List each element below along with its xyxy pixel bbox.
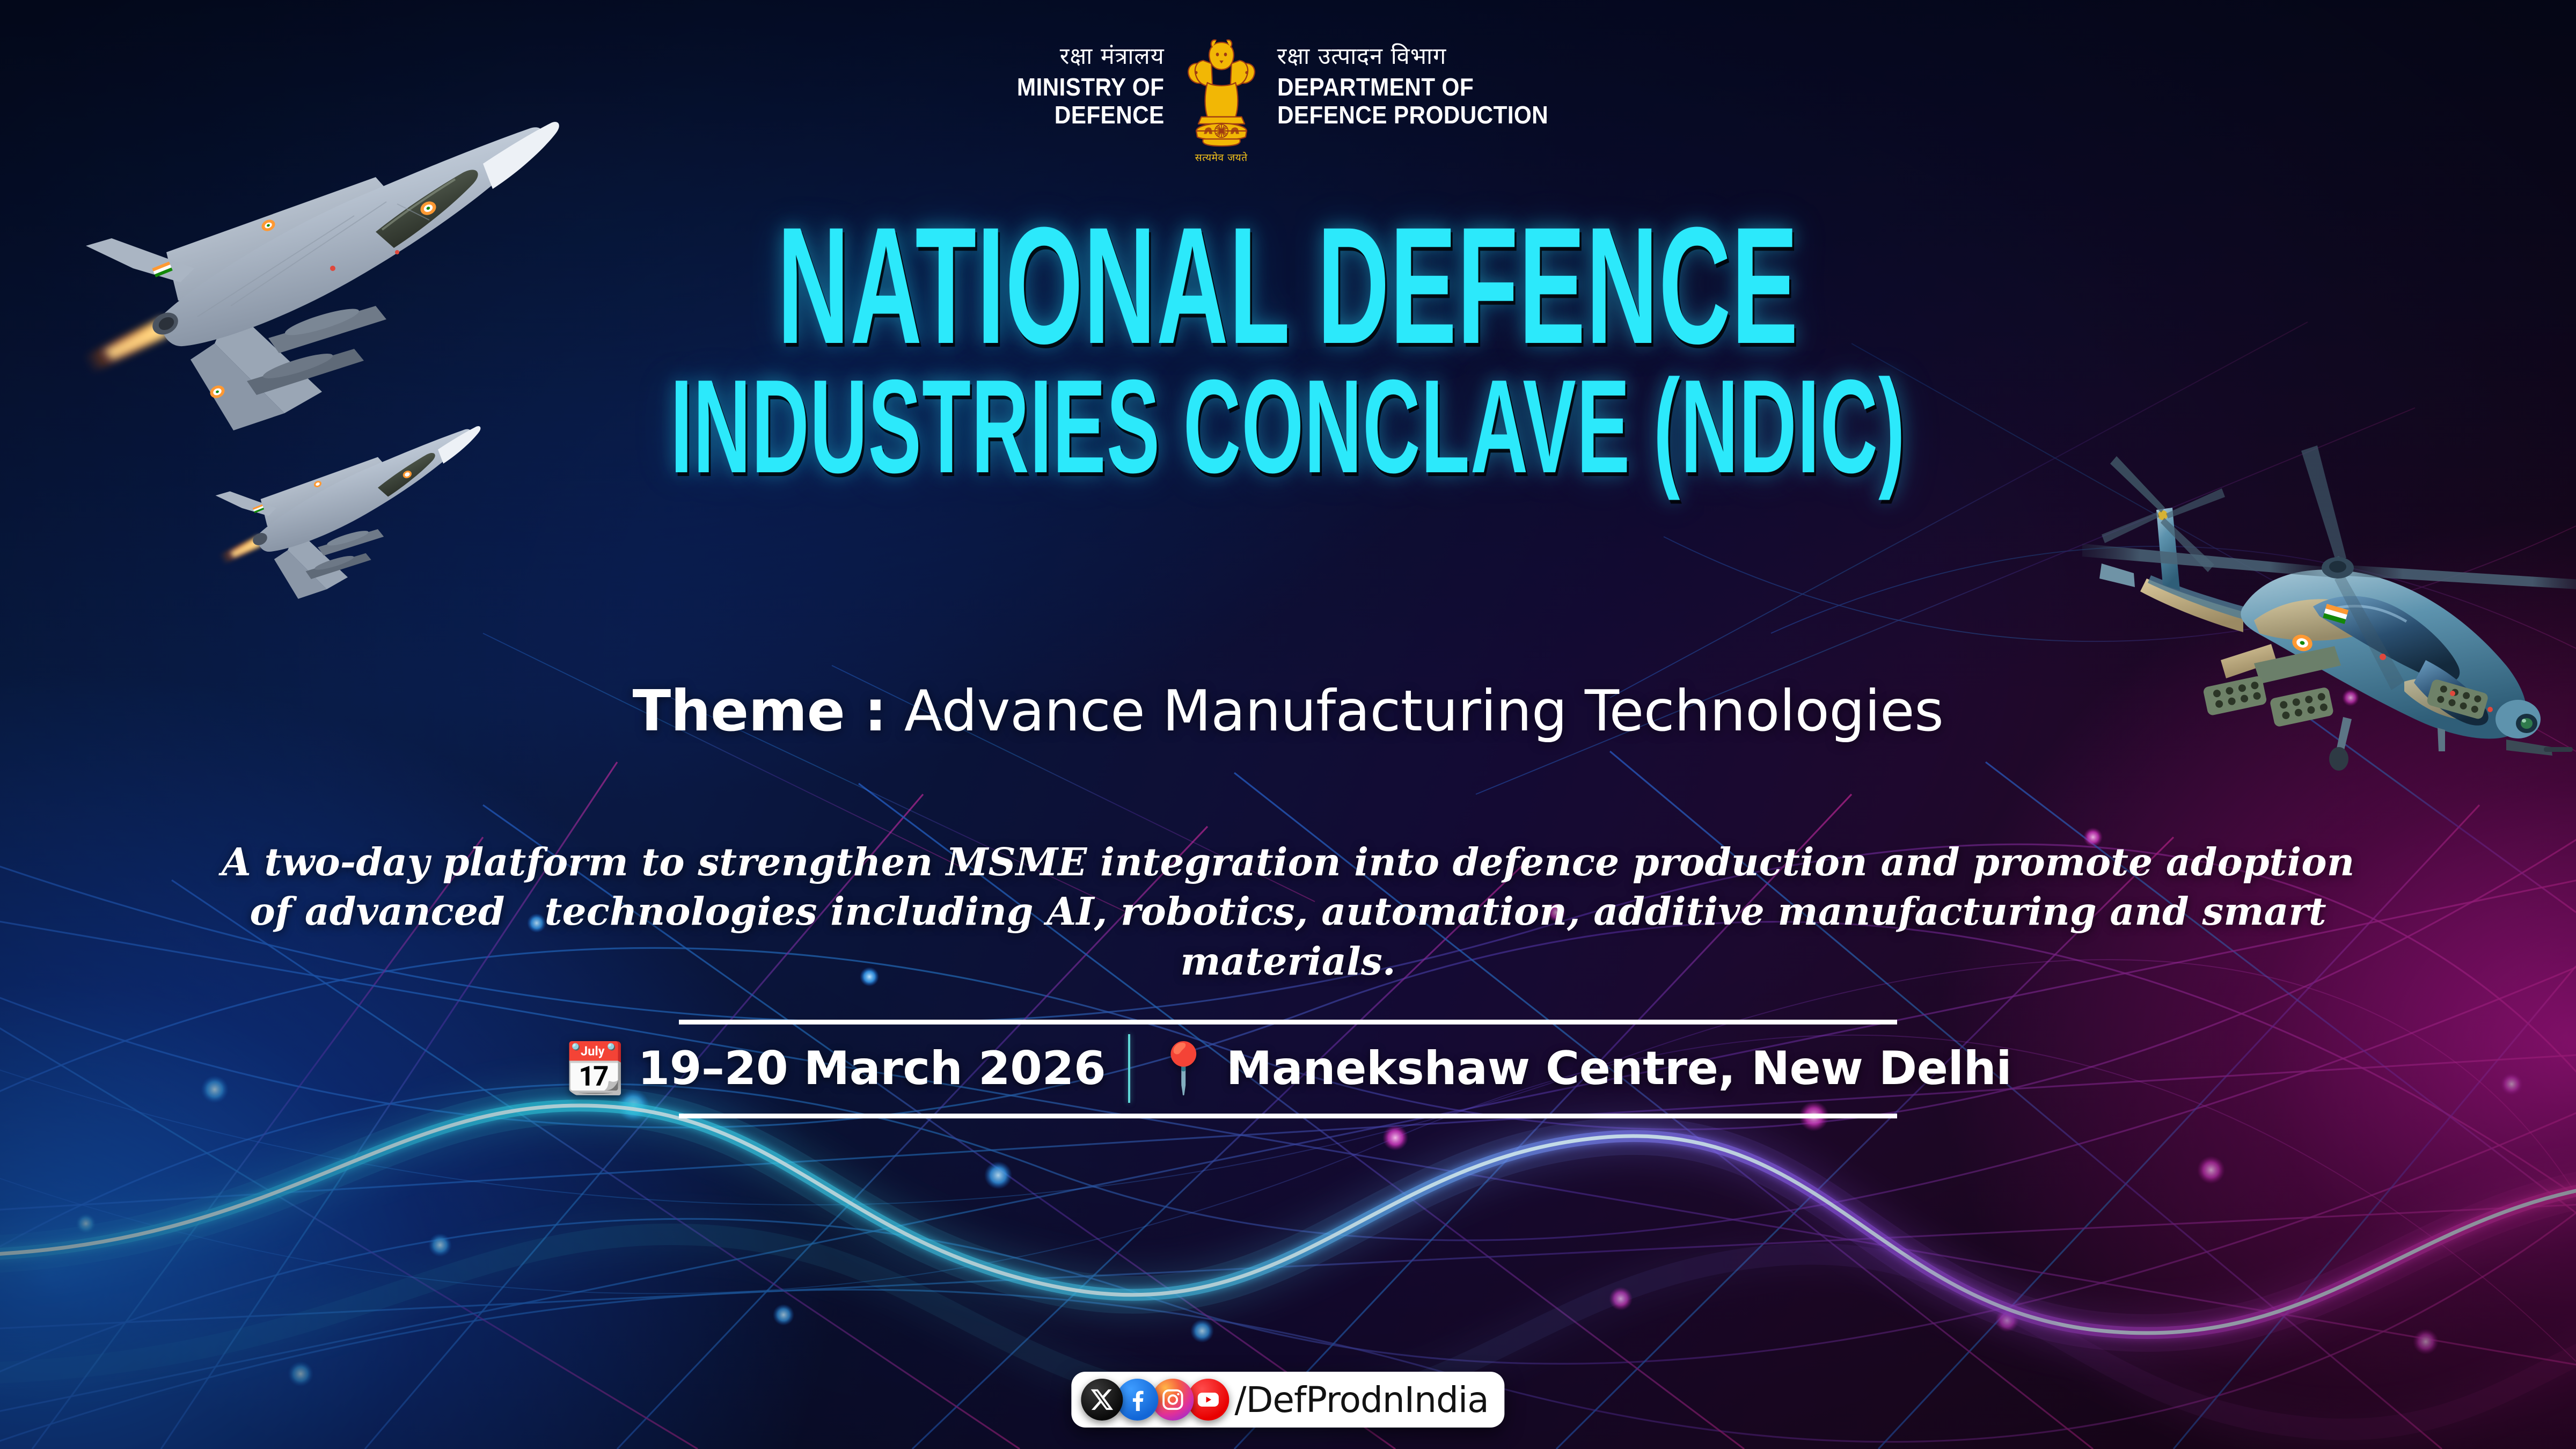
social-media-handle-pill[interactable]: /DefProdnIndia [1071, 1372, 1504, 1428]
department-english-line1: DEPARTMENT OF [1277, 74, 1474, 101]
social-handle-text[interactable]: /DefProdnIndia [1234, 1379, 1488, 1421]
event-venue-text: Manekshaw Centre, New Delhi [1226, 1042, 2011, 1095]
poster-canvas: रक्षा मंत्रालय MINISTRY OF DEFENCE [0, 0, 2576, 1449]
event-title-line-1: NATIONAL DEFENCE [515, 210, 2061, 360]
info-divider [1128, 1034, 1130, 1103]
government-emblem-header: रक्षा मंत्रालय MINISTRY OF DEFENCE [0, 32, 2576, 164]
department-hindi-label: रक्षा उत्पादन विभाग [1277, 44, 1447, 69]
department-english-line2: DEFENCE PRODUCTION [1277, 101, 1548, 129]
date-and-venue-bar: 📆 19–20 March 2026 📍 Manekshaw Centre, N… [679, 1020, 1897, 1118]
event-theme: Theme : Advance Manufacturing Technologi… [0, 680, 2576, 743]
ministry-english-line1: MINISTRY OF [1017, 74, 1164, 101]
ministry-english-line2: DEFENCE [1055, 101, 1165, 129]
ministry-of-defence-block: रक्षा मंत्रालय MINISTRY OF DEFENCE [1004, 32, 1178, 129]
event-date-text: 19–20 March 2026 [638, 1042, 1106, 1095]
emblem-motto-label: सत्यमेव जयते [1195, 150, 1248, 164]
event-description: A two-day platform to strengthen MSME in… [199, 837, 2377, 986]
theme-value: Advance Manufacturing Technologies [904, 678, 1944, 744]
event-title-line-2: INDUSTRIES CONCLAVE (NDIC) [515, 363, 2061, 490]
calendar-icon: 📆 [565, 1044, 626, 1093]
map-pin-icon: 📍 [1153, 1044, 1214, 1093]
event-venue-item: 📍 Manekshaw Centre, New Delhi [1153, 1042, 2011, 1095]
event-title: NATIONAL DEFENCE INDUSTRIES CONCLAVE (ND… [0, 210, 2576, 490]
ashoka-lion-capital-emblem-icon: सत्यमेव जयते [1179, 32, 1264, 164]
department-of-defence-production-block: रक्षा उत्पादन विभाग DEPARTMENT OF DEFENC… [1264, 32, 1572, 129]
theme-label: Theme : [633, 678, 887, 744]
x-twitter-icon[interactable] [1081, 1379, 1123, 1421]
ministry-hindi-label: रक्षा मंत्रालय [1060, 44, 1165, 69]
event-date-item: 📆 19–20 March 2026 [565, 1042, 1106, 1095]
event-description-line-2: technologies including AI, robotics, aut… [545, 889, 2326, 983]
